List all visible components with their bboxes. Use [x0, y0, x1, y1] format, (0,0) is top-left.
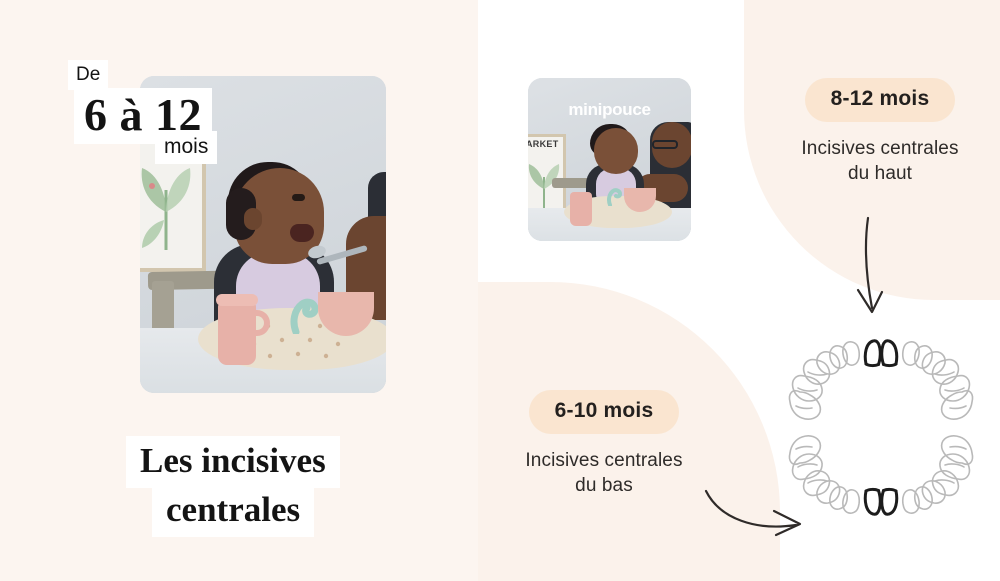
upper-arch	[789, 342, 859, 419]
adult-glasses	[652, 140, 678, 149]
age-badge-lower: 6-10 mois	[529, 390, 680, 434]
lower-central-incisors-highlighted	[865, 489, 896, 514]
age-badge-upper: 8-12 mois	[805, 78, 956, 122]
step-description-lower-line1: Incisives centrales	[484, 448, 724, 473]
step-description-upper-line1: Incisives centrales	[760, 136, 1000, 161]
sippy-cup-lid	[216, 294, 258, 306]
silicone-teether-toy	[606, 188, 622, 206]
step-description-upper: Incisives centrales du haut	[760, 136, 1000, 187]
sippy-cup	[218, 301, 256, 365]
step-upper-incisors: 8-12 mois Incisives centrales du haut	[760, 78, 1000, 187]
page-title-line-2: centrales	[152, 485, 314, 537]
brand-logo: minipouce	[528, 100, 691, 120]
wall-poster: ARKET	[528, 134, 566, 218]
infographic-canvas: ARKET	[0, 0, 1000, 581]
lower-arch-right	[903, 436, 973, 513]
headline-unit: mois	[155, 131, 217, 164]
baby-ear	[244, 208, 262, 230]
sippy-cup	[570, 192, 592, 226]
step-description-lower-line2: du bas	[484, 473, 724, 498]
poster-plant-illustration	[140, 150, 198, 260]
step-description-lower: Incisives centrales du bas	[484, 448, 724, 499]
dental-arch-diagram	[786, 330, 976, 525]
lower-arch	[789, 436, 859, 513]
silicone-teether-toy	[288, 298, 318, 334]
arrow-down-to-diagram-icon	[838, 214, 908, 320]
secondary-photo: ARKET minipouce	[528, 78, 691, 241]
poster-text: ARKET	[528, 139, 559, 149]
page-title-line-1: Les incisives	[126, 436, 340, 488]
step-lower-incisors: 6-10 mois Incisives centrales du bas	[484, 390, 724, 499]
headline-prefix: De	[68, 60, 108, 90]
baby-open-mouth	[290, 224, 314, 242]
baby-eye	[292, 194, 305, 201]
upper-arch-right	[903, 342, 973, 419]
upper-central-incisors-highlighted	[865, 341, 896, 366]
step-description-upper-line2: du haut	[760, 161, 1000, 186]
baby-head	[594, 128, 638, 174]
